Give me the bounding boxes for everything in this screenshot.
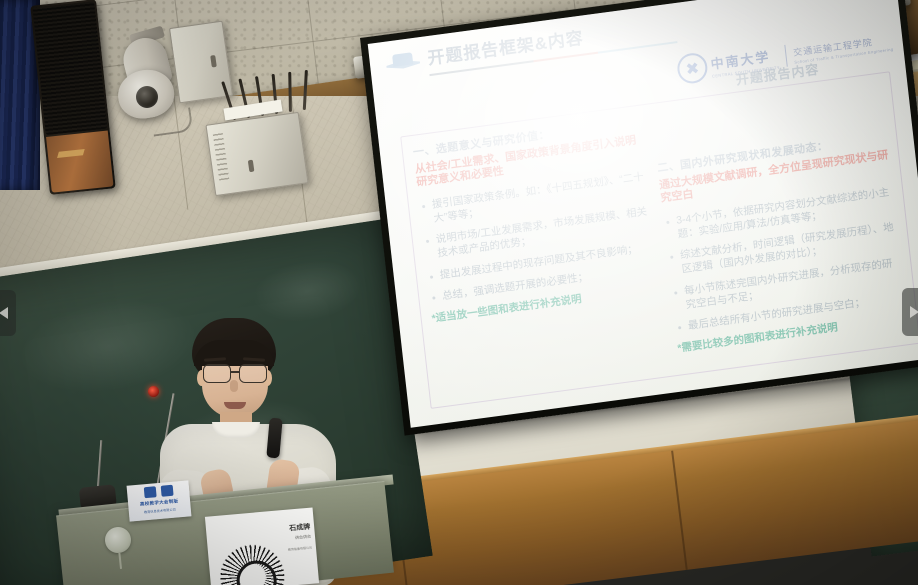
camera-lens-icon — [136, 86, 158, 108]
csu-seal-icon — [676, 51, 709, 85]
cabinet-latch — [210, 55, 217, 68]
podium-poster: 石成牌 讲台讲台 教育装备有限公司 — [205, 507, 319, 585]
gallery-prev-button[interactable] — [0, 290, 16, 336]
graduation-cap-icon — [385, 51, 421, 77]
slide-column-left: 一、选题意义与研究价值： 从社会/工业需求、国家政策背景角度引入说明研究意义和必… — [412, 113, 670, 398]
slide-title: 开题报告框架&内容 — [427, 15, 677, 69]
poster-title: 石成牌 — [289, 522, 311, 534]
eyeglasses-icon — [202, 364, 268, 381]
presentation-photo-scene: 19 33 — [0, 0, 918, 585]
cabinet-vent — [213, 132, 230, 181]
presenter-mouth — [224, 402, 246, 409]
podium-name-card: 高校教学大会制版 教育信息技术有限公司 — [127, 480, 192, 521]
presenter-hair-fringe — [194, 340, 274, 366]
slide-column-right: 二、国内外研究现状和发展动态： 通过大规模文献调研，全方位呈现研究现状与研究空白… — [651, 82, 909, 367]
presenter-nose — [230, 380, 238, 392]
projection-screen-surface: 开题报告框架&内容 开题报告内容 中南大学 CENTRAL SOUTH UNIV… — [368, 0, 918, 428]
cabinet-latch — [248, 160, 255, 173]
wall-equipment-cabinet — [205, 112, 308, 196]
bullet-list: 3-4个小节，依据研究内容划分文献综述的小主题：实验/应用/算法/仿真等等； 综… — [663, 185, 905, 335]
logo-divider — [784, 45, 787, 67]
poster-fineprint: 教育装备有限公司 — [288, 546, 312, 552]
speaker-grille — [32, 1, 107, 135]
poster-subtitle: 讲台讲台 — [295, 534, 311, 541]
chevron-right-icon — [910, 306, 918, 318]
projection-screen: 开题报告框架&内容 开题报告内容 中南大学 CENTRAL SOUTH UNIV… — [360, 0, 918, 436]
slide-content-box: 一、选题意义与研究价值： 从社会/工业需求、国家政策背景角度引入说明研究意义和必… — [400, 71, 918, 409]
chevron-left-icon — [0, 307, 8, 319]
bullet-list: 援引国家政策条例。如：《十四五规划》、“二十大”等等； 说明市场/工业发展需求，… — [418, 169, 659, 305]
speaker-wood-base — [46, 131, 114, 193]
slide-content: 开题报告框架&内容 开题报告内容 中南大学 CENTRAL SOUTH UNIV… — [368, 0, 918, 428]
gallery-next-button[interactable] — [902, 288, 918, 336]
